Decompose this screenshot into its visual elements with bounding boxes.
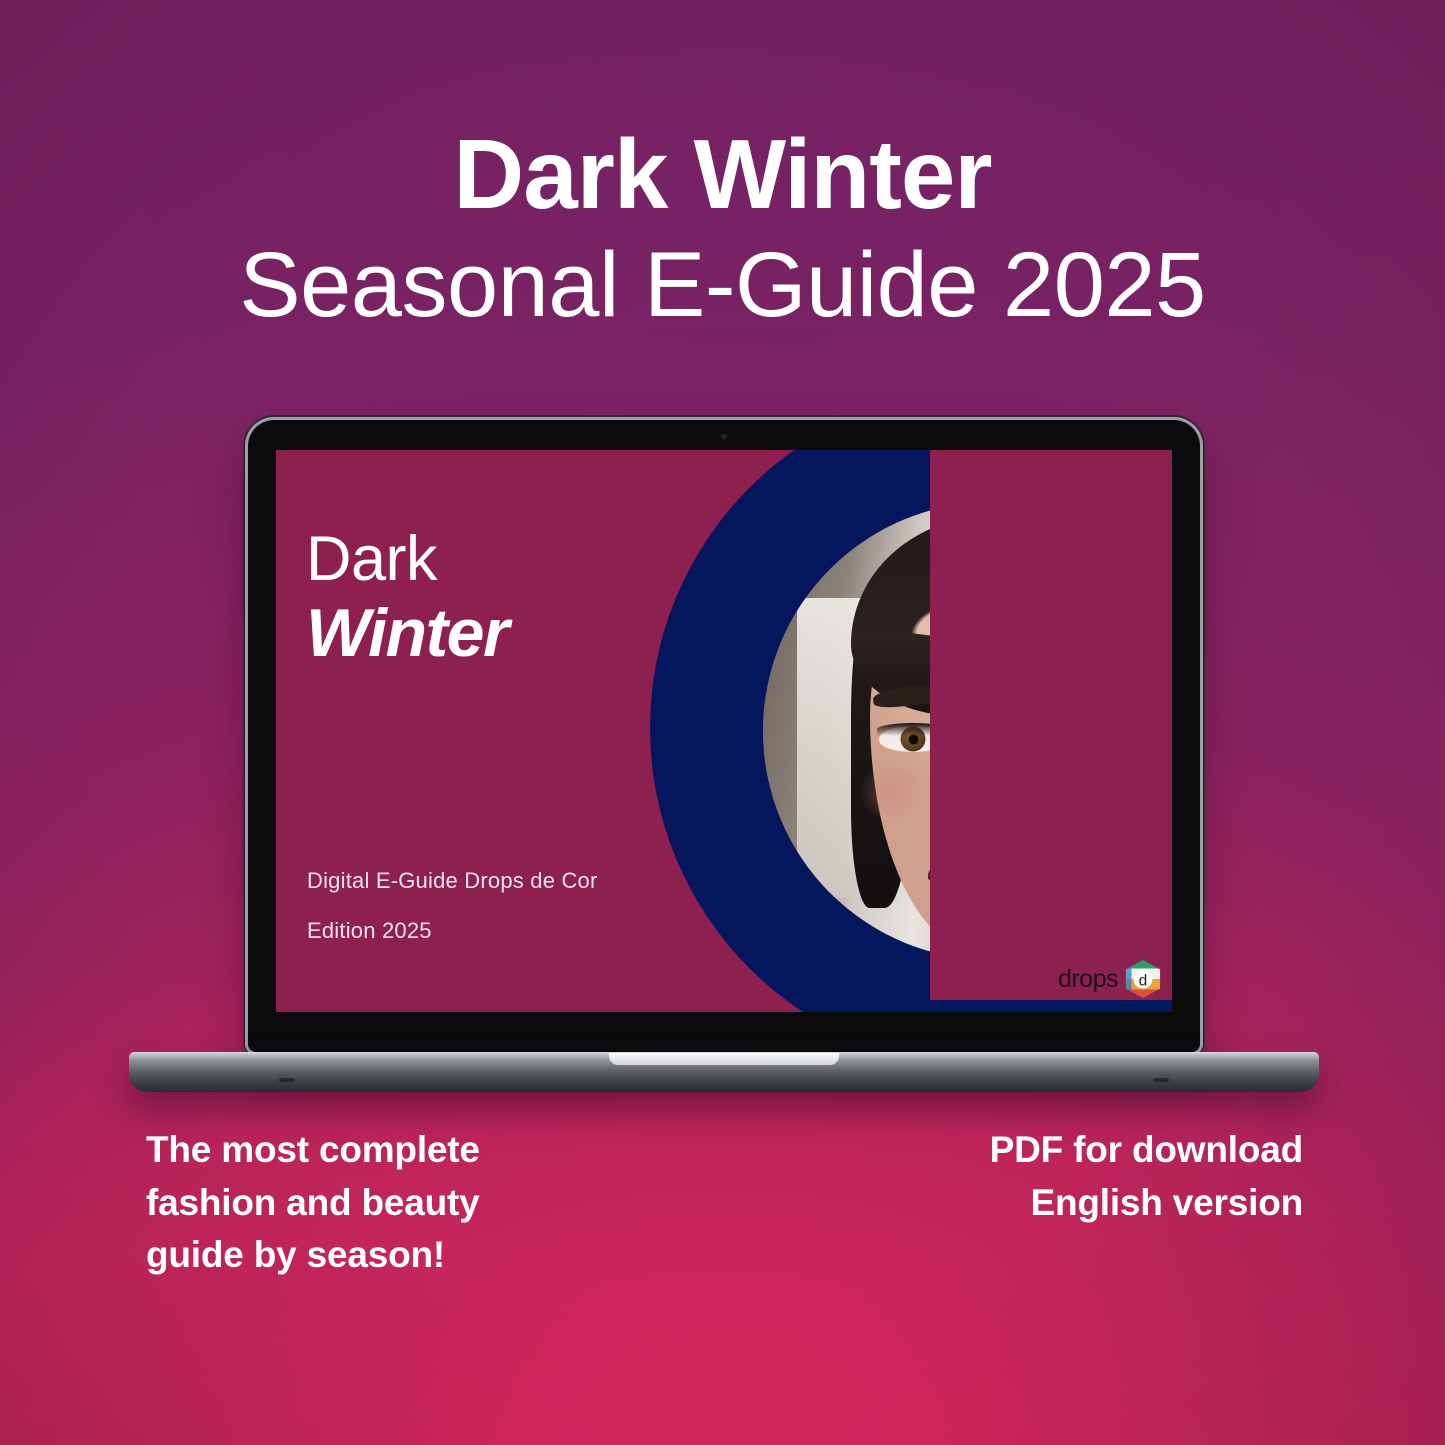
caption-right: PDF for download English version: [973, 1124, 1303, 1229]
laptop-mockup: Dark Winter Digital E-Guide Drops de Cor…: [248, 420, 1200, 1104]
laptop-base-notch: [609, 1053, 839, 1065]
slide-meta-line1: Digital E-Guide Drops de Cor: [307, 868, 598, 894]
slide-title-block: Dark Winter: [306, 528, 508, 669]
svg-text:d: d: [1139, 973, 1148, 990]
caption-left: The most complete fashion and beauty gui…: [146, 1124, 506, 1282]
laptop-foot-right: [1153, 1078, 1169, 1082]
laptop-foot-left: [279, 1078, 295, 1082]
magenta-overlay-band: [930, 450, 1172, 1000]
webcam-icon: [721, 433, 728, 440]
slide-meta-block: Digital E-Guide Drops de Cor Edition 202…: [307, 868, 598, 944]
laptop-lid: Dark Winter Digital E-Guide Drops de Cor…: [248, 420, 1200, 1052]
laptop-screen: Dark Winter Digital E-Guide Drops de Cor…: [276, 450, 1172, 1012]
page-title: Dark Winter: [0, 124, 1445, 226]
blush-left: [855, 766, 927, 818]
slide-title-line1: Dark: [306, 528, 508, 591]
laptop-base-wrap: [129, 1052, 1319, 1104]
poster-title-block: Dark Winter Seasonal E-Guide 2025: [0, 124, 1445, 337]
laptop-base: [129, 1052, 1319, 1092]
drops-logo: drops: [1058, 958, 1164, 1000]
drops-logo-wordmark: drops: [1058, 967, 1118, 992]
page-subtitle: Seasonal E-Guide 2025: [0, 234, 1445, 337]
slide-title-line2: Winter: [306, 597, 508, 669]
slide-meta-line2: Edition 2025: [307, 918, 598, 944]
poster-canvas: Dark Winter Seasonal E-Guide 2025: [0, 0, 1445, 1445]
drops-logo-icon: d: [1122, 958, 1164, 1000]
